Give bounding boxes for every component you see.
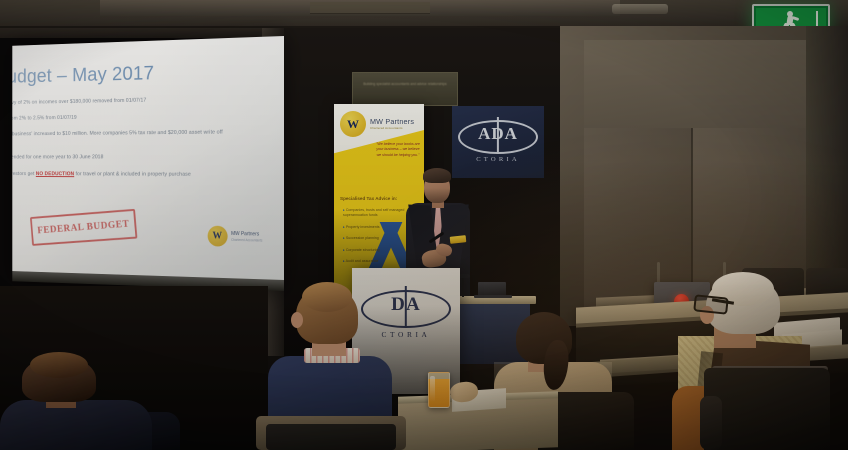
back-wall-sign: Building specialist accountants and advi… <box>352 72 458 106</box>
ada-victoria-sign-back: ADA CTORIA <box>452 106 544 178</box>
chair-front-left-seat <box>266 424 396 450</box>
slide-logo-sub: Chartered Accountants <box>231 237 262 242</box>
slide-bullet: reshold for 'small business' increased t… <box>12 129 241 146</box>
wall-shadow <box>560 26 848 326</box>
presenter-face-shadow <box>424 188 450 203</box>
chair-foreground <box>704 368 830 450</box>
attendee-navy-hair-top <box>302 282 352 312</box>
slide-title: al Budget – May 2017 <box>12 60 225 89</box>
federal-budget-stamp: FEDERAL BUDGET <box>30 209 137 246</box>
presenter-laptop-base <box>474 295 512 298</box>
projected-slide: al Budget – May 2017 Budget Repair Levy … <box>12 36 284 280</box>
ceiling-light <box>612 4 668 14</box>
presenter-hair <box>423 168 451 183</box>
slide-bullets: Budget Repair Levy of 2% on incomes over… <box>12 95 241 188</box>
conference-room-photo: al Budget – May 2017 Budget Repair Levy … <box>0 0 848 450</box>
attendee-front-left-hair-top <box>30 352 88 378</box>
ada-wordmark: ADA <box>478 125 518 142</box>
slide-bullet: Budget Repair Levy of 2% on incomes over… <box>12 95 241 108</box>
attendee-front-left-body <box>0 400 152 450</box>
juice-glass-highlight <box>430 376 435 402</box>
microphone-stem <box>462 276 464 297</box>
slide-bullet: sset Write Off extended for one more yea… <box>12 154 241 162</box>
slide-logo-text: MW Partners Chartered Accountants <box>231 231 262 242</box>
slide-bullet-text: 07/17 property investors get NO DEDUCTIO… <box>12 171 191 177</box>
projection-screen: al Budget – May 2017 Budget Repair Levy … <box>12 36 284 291</box>
attendee-navy-ear <box>291 312 303 328</box>
slide-logo: W MW Partners Chartered Accountants <box>207 226 262 248</box>
chair-armrest <box>700 396 722 450</box>
back-wall-sign-text: Building specialist accountants and advi… <box>353 82 457 87</box>
slide-bullet-highlight: 07/17 property investors get NO DEDUCTIO… <box>12 170 241 179</box>
ada-sub-wordmark: CTORIA <box>452 156 544 163</box>
ceiling-vent <box>310 2 430 14</box>
slide-bullet: evy to increase from 2% to 2.5% from 01/… <box>12 112 241 123</box>
attendee-glasses <box>693 294 729 314</box>
mw-logo-mark: W <box>207 226 227 247</box>
